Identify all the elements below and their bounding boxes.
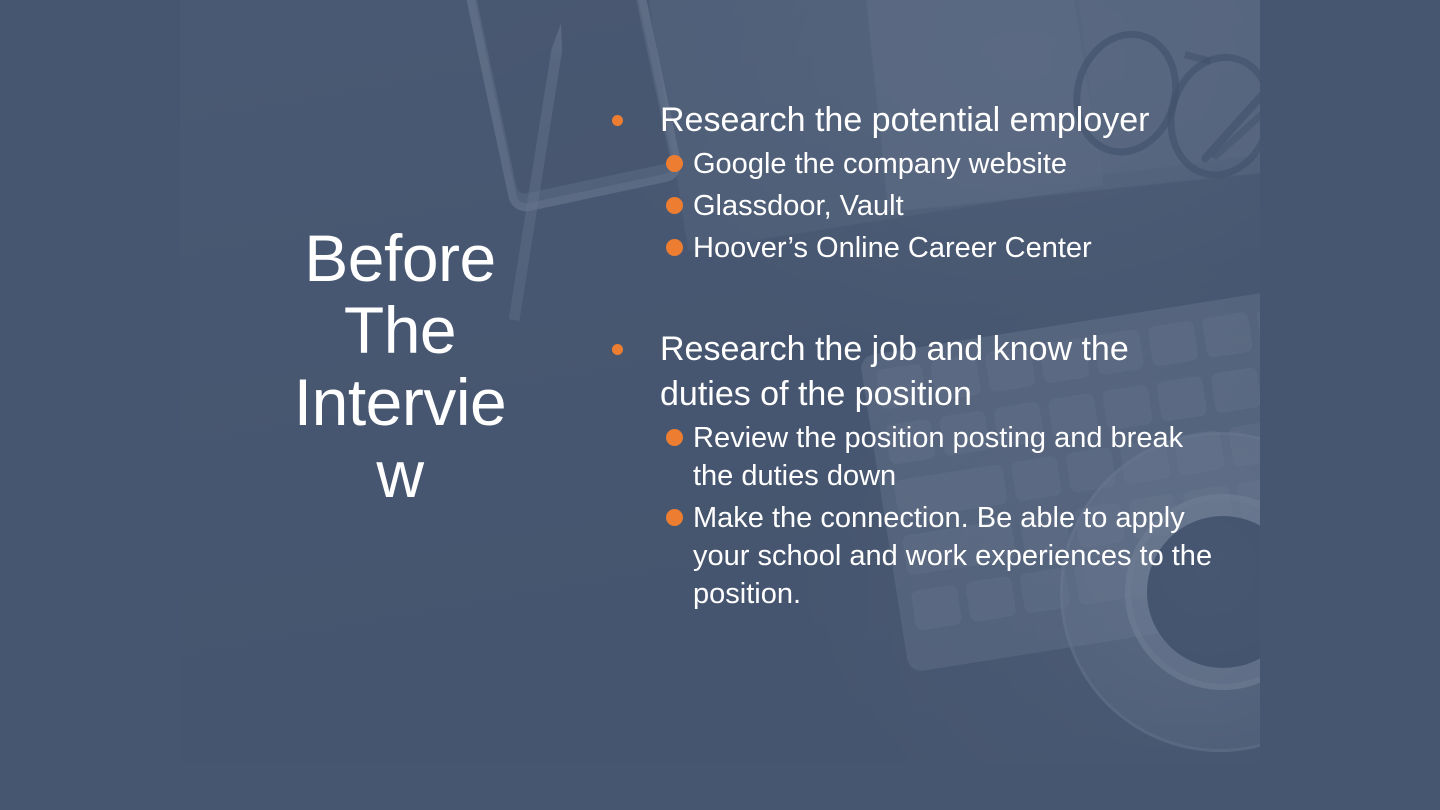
bullet-level2: Google the company website — [600, 145, 1220, 183]
bullet-level2: Review the position posting and break th… — [600, 419, 1220, 495]
presentation-slide: Before The Intervie w Research the poten… — [0, 0, 1440, 810]
slide-body-content: Research the potential employer Google t… — [600, 98, 1220, 617]
bullet-level2: Hoover’s Online Career Center — [600, 229, 1220, 267]
bullet-dot-icon — [612, 115, 623, 126]
bullet-dot-icon — [612, 344, 623, 355]
bullet-text: Research the job and know the duties of … — [660, 330, 1129, 413]
bullet-dot-icon — [666, 509, 683, 526]
bullet-text: Google the company website — [693, 148, 1067, 180]
bullet-dot-icon — [666, 239, 683, 256]
slide-title: Before The Intervie w — [200, 222, 600, 510]
bullet-text: Glassdoor, Vault — [693, 190, 904, 222]
bullet-text: Make the connection. Be able to apply yo… — [693, 502, 1212, 610]
bullet-level1: Research the job and know the duties of … — [600, 327, 1220, 417]
bullet-dot-icon — [666, 429, 683, 446]
bullet-level1: Research the potential employer — [600, 98, 1220, 143]
bullet-text: Research the potential employer — [660, 101, 1150, 139]
bullet-dot-icon — [666, 197, 683, 214]
bullet-dot-icon — [666, 155, 683, 172]
bullet-level2: Glassdoor, Vault — [600, 187, 1220, 225]
bullet-level2: Make the connection. Be able to apply yo… — [600, 499, 1220, 613]
bullet-group-spacer — [600, 271, 1220, 327]
bullet-text: Hoover’s Online Career Center — [693, 232, 1092, 264]
bullet-text: Review the position posting and break th… — [693, 422, 1183, 492]
